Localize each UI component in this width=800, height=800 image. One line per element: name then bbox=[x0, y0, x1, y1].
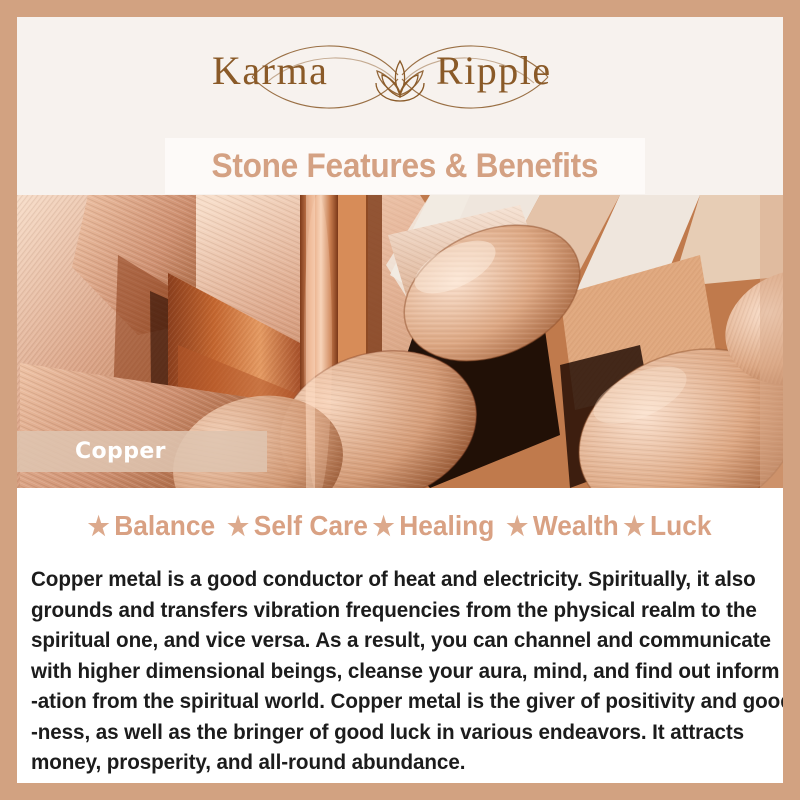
frame-border-bottom bbox=[0, 783, 800, 800]
brand-name-right: Ripple bbox=[436, 51, 552, 91]
star-icon-4: ★ bbox=[504, 511, 530, 541]
frame-border-top bbox=[0, 0, 800, 17]
frame-border-right bbox=[783, 0, 800, 800]
description-line: with higher dimensional beings, cleanse … bbox=[31, 656, 743, 687]
benefit-item-balance: Balance bbox=[111, 510, 218, 541]
photo-caption-text: Copper bbox=[75, 439, 166, 464]
page-title: Stone Features & Benefits bbox=[212, 147, 599, 186]
benefits-list: ★Balance ★Self Care★Healing ★Wealth★Luck bbox=[40, 510, 760, 542]
brand-name-left: Karma bbox=[212, 51, 328, 91]
benefit-item-wealth: Wealth bbox=[530, 510, 621, 541]
title-banner: Stone Features & Benefits bbox=[165, 138, 645, 194]
benefit-item-luck: Luck bbox=[647, 510, 714, 541]
star-icon-1: ★ bbox=[86, 511, 112, 541]
description-line: grounds and transfers vibration frequenc… bbox=[31, 595, 743, 626]
inner-canvas: Karma Ripple Stone Features & Benefits bbox=[17, 17, 783, 783]
infographic-page: Karma Ripple Stone Features & Benefits bbox=[0, 0, 800, 800]
description-line: Copper metal is a good conductor of heat… bbox=[31, 564, 743, 595]
description-line: spiritual one, and vice versa. As a resu… bbox=[31, 625, 743, 656]
benefit-item-healing: Healing bbox=[396, 510, 497, 541]
lotus-icon bbox=[376, 61, 424, 101]
brand-header: Karma Ripple bbox=[17, 17, 783, 137]
photo-caption: Copper bbox=[17, 431, 267, 472]
description-text: Copper metal is a good conductor of heat… bbox=[31, 564, 743, 778]
brand-logo: Karma Ripple bbox=[190, 31, 610, 123]
star-icon-2: ★ bbox=[225, 511, 251, 541]
description-line: money, prosperity, and all-round abundan… bbox=[31, 747, 743, 778]
copper-photo: Copper bbox=[17, 195, 783, 488]
benefit-item-self-care: Self Care bbox=[251, 510, 371, 541]
content-section: ★Balance ★Self Care★Healing ★Wealth★Luck… bbox=[17, 488, 783, 783]
frame-border-left bbox=[0, 0, 17, 800]
star-icon-3: ★ bbox=[371, 511, 397, 541]
star-icon-5: ★ bbox=[622, 511, 648, 541]
description-line: -ness, as well as the bringer of good lu… bbox=[31, 717, 743, 748]
description-line: -ation from the spiritual world. Copper … bbox=[31, 686, 743, 717]
